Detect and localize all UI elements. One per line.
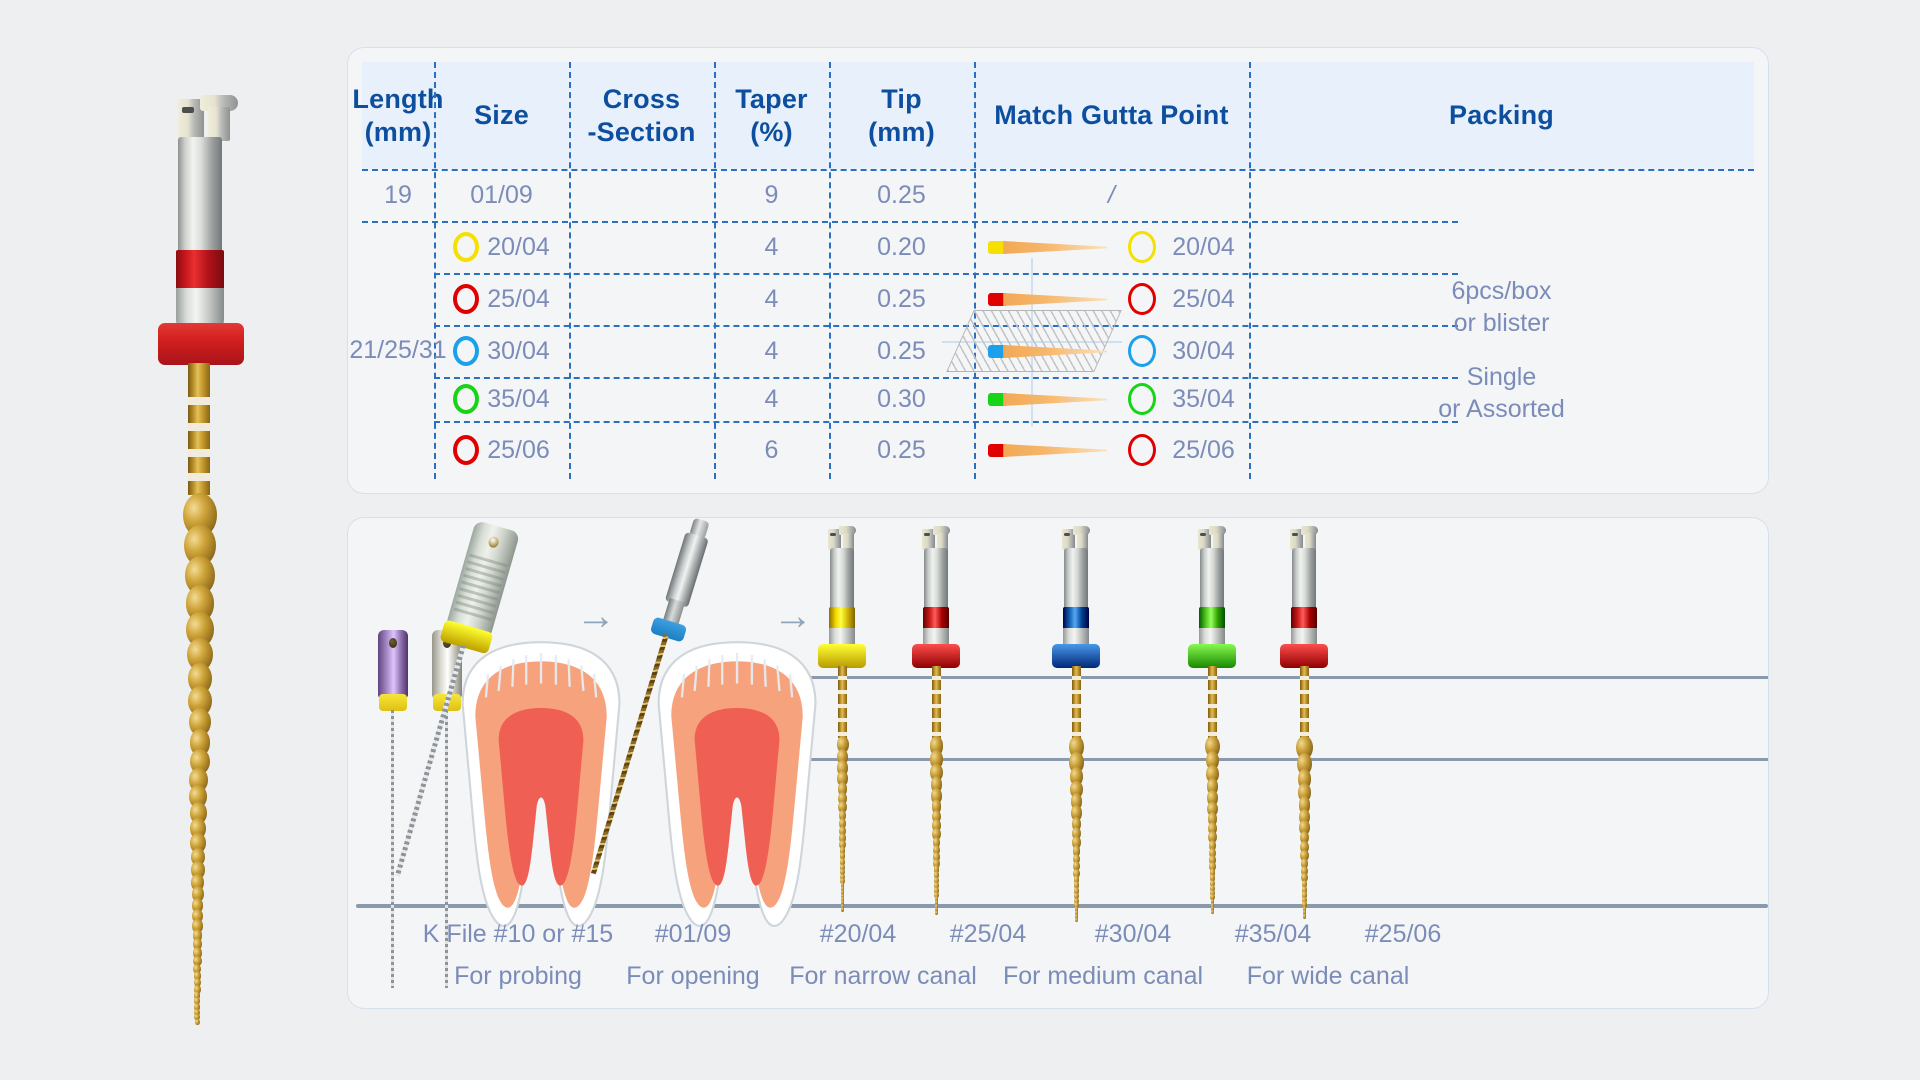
cell-match-gutta-point: 35/04 xyxy=(974,377,1249,421)
rotary-file-instrument xyxy=(908,526,964,964)
header-cross-section-label: Cross-Section xyxy=(587,83,695,149)
label-use-narrow: For narrow canal xyxy=(773,962,993,991)
k-file-stopper xyxy=(379,694,407,711)
hero-depth-marker xyxy=(188,449,210,457)
cell-match-gutta-point: 30/04 xyxy=(974,325,1249,377)
cell-size: 20/04 xyxy=(434,221,569,273)
rotary-file-instrument xyxy=(1184,526,1240,962)
cell-taper: 4 xyxy=(714,377,829,421)
label-use-medium: For medium canal xyxy=(993,962,1213,991)
gutta-label: 25/04 xyxy=(1172,283,1235,315)
hero-depth-marker xyxy=(188,473,210,481)
header-size: Size xyxy=(434,62,569,169)
workflow-diagram: → → K File #10 or #15 #01/09 #20/04 #25/… xyxy=(348,518,1768,1008)
length-value: 19 xyxy=(384,179,412,211)
header-cross-section: Cross-Section xyxy=(569,62,714,169)
packing-line-4: or Assorted xyxy=(1438,393,1564,425)
packing-line-1: 6pcs/box xyxy=(1451,275,1551,307)
gutta-color-ring-icon xyxy=(1128,283,1156,315)
cell-length-212531: 21/25/31 xyxy=(362,221,434,479)
size-color-ring-icon xyxy=(453,435,479,465)
identification-band xyxy=(829,607,855,630)
size-value: 25/06 xyxy=(487,434,550,466)
cell-tip: 0.25 xyxy=(829,421,974,479)
tooth-cross-section xyxy=(452,638,630,930)
gutta-color-ring-icon xyxy=(1128,383,1156,415)
cell-size: 30/04 xyxy=(434,325,569,377)
header-match-gutta-label: Match Gutta Point xyxy=(994,99,1228,132)
file-handle xyxy=(446,520,520,636)
gutta-label: 20/04 xyxy=(1172,231,1235,263)
size-color-ring-icon xyxy=(453,232,479,262)
arrow-icon: → xyxy=(773,596,813,636)
cell-size: 01/09 xyxy=(434,169,569,221)
k-file-eyelet-icon xyxy=(389,638,397,648)
workflow-panel: → → K File #10 or #15 #01/09 #20/04 #25/… xyxy=(348,518,1768,1008)
label-opener-name: #01/09 xyxy=(598,920,788,949)
gutta-label: 25/06 xyxy=(1172,434,1235,466)
size-color-ring-icon xyxy=(453,284,479,314)
silicone-stopper xyxy=(1280,644,1328,668)
hero-flutes xyxy=(180,493,220,1023)
identification-band xyxy=(1199,607,1225,630)
gutta-cone-icon xyxy=(988,343,1106,359)
tooth-cross-section xyxy=(648,638,826,930)
gutta-cone-icon xyxy=(988,291,1106,307)
hero-latch-head xyxy=(178,95,238,143)
header-packing: Packing xyxy=(1249,62,1754,169)
flutes xyxy=(928,736,945,914)
arrow-icon: → xyxy=(576,596,616,636)
gutta-point-graphic: 35/04 xyxy=(988,383,1235,415)
orifice-opener xyxy=(689,516,716,524)
silicone-stopper xyxy=(1188,644,1236,668)
header-tip: Tip(mm) xyxy=(829,62,974,169)
label-use-opening: For opening xyxy=(598,962,788,991)
label-20-04-name: #20/04 xyxy=(788,920,928,949)
cell-match-gutta-point: / xyxy=(974,169,1249,221)
gutta-point-graphic: 20/04 xyxy=(988,231,1235,263)
cell-taper: 6 xyxy=(714,421,829,479)
shank xyxy=(1292,548,1316,610)
silicone-stopper xyxy=(818,644,866,668)
header-length-label: Length(mm) xyxy=(352,83,443,149)
rotary-file-instrument xyxy=(814,526,870,958)
gutta-point-graphic: 25/04 xyxy=(988,283,1235,315)
flutes xyxy=(1068,736,1085,918)
cell-tip: 0.30 xyxy=(829,377,974,421)
identification-band xyxy=(923,607,949,630)
label-25-04-name: #25/04 xyxy=(918,920,1058,949)
identification-band xyxy=(1063,607,1089,630)
cell-size: 25/04 xyxy=(434,273,569,325)
gutta-label: 35/04 xyxy=(1172,383,1235,415)
label-30-04-name: #30/04 xyxy=(1063,920,1203,949)
cell-length-19: 19 xyxy=(362,169,434,221)
gutta-color-ring-icon xyxy=(1128,335,1156,367)
size-color-ring-icon xyxy=(453,336,479,366)
rotary-file-instrument xyxy=(1048,526,1104,968)
header-length: Length(mm) xyxy=(362,62,434,169)
cell-size: 25/06 xyxy=(434,421,569,479)
bur-body xyxy=(665,532,709,608)
cell-taper: 9 xyxy=(714,169,829,221)
column-divider xyxy=(569,62,571,479)
size-value: 35/04 xyxy=(487,383,550,415)
shank xyxy=(1200,548,1224,610)
gutta-cone-icon xyxy=(988,391,1106,407)
cell-taper: 4 xyxy=(714,273,829,325)
hero-depth-marker xyxy=(188,423,210,431)
header-packing-label: Packing xyxy=(1449,99,1554,132)
specification-table: Length(mm) Size Cross-Section Taper(%) T… xyxy=(362,62,1754,479)
cell-packing: 6pcs/box or blister Single or Assorted xyxy=(1249,221,1754,479)
silicone-stopper xyxy=(1052,644,1100,668)
gutta-cone-icon xyxy=(988,239,1106,255)
identification-band xyxy=(1291,607,1317,630)
hero-shank xyxy=(178,137,222,255)
rotary-file-instrument xyxy=(1276,526,1332,966)
header-taper-label: Taper(%) xyxy=(735,83,808,149)
shank xyxy=(1064,548,1088,610)
hero-color-band xyxy=(176,250,224,290)
label-use-wide: For wide canal xyxy=(1218,962,1438,991)
cell-size: 35/04 xyxy=(434,377,569,421)
flutes xyxy=(1296,736,1313,916)
flutes xyxy=(1204,736,1221,912)
silicone-stopper xyxy=(912,644,960,668)
cell-match-gutta-point: 25/06 xyxy=(974,421,1249,479)
cell-match-gutta-point: 25/04 xyxy=(974,273,1249,325)
hero-endodontic-file xyxy=(120,95,320,1025)
size-value: 01/09 xyxy=(470,179,533,211)
gutta-cone-icon xyxy=(988,442,1106,458)
flute-bead xyxy=(195,1019,200,1025)
specification-panel: Length(mm) Size Cross-Section Taper(%) T… xyxy=(348,48,1768,493)
label-25-06-name: #25/06 xyxy=(1333,920,1473,949)
gutta-point-graphic: 25/06 xyxy=(988,434,1235,466)
gutta-label: 30/04 xyxy=(1172,335,1235,367)
cell-tip: 0.20 xyxy=(829,221,974,273)
flutes xyxy=(834,736,851,908)
header-size-label: Size xyxy=(474,99,529,132)
cell-taper: 4 xyxy=(714,221,829,273)
shank xyxy=(830,548,854,610)
packing-line-2: or blister xyxy=(1454,307,1550,339)
hero-depth-marker xyxy=(188,397,210,405)
size-value: 30/04 xyxy=(487,335,550,367)
shank xyxy=(924,548,948,610)
gutta-color-ring-icon xyxy=(1128,434,1156,466)
length-value: 21/25/31 xyxy=(349,334,446,366)
packing-line-3: Single xyxy=(1467,361,1537,393)
cell-match-gutta-point: 20/04 xyxy=(974,221,1249,273)
size-color-ring-icon xyxy=(453,384,479,414)
size-value: 20/04 xyxy=(487,231,550,263)
header-taper: Taper(%) xyxy=(714,62,829,169)
hero-silicone-stopper xyxy=(158,323,244,365)
size-value: 25/04 xyxy=(487,283,550,315)
label-35-04-name: #35/04 xyxy=(1203,920,1343,949)
gutta-point-graphic: 30/04 xyxy=(988,335,1235,367)
header-match-gutta: Match Gutta Point xyxy=(974,62,1249,169)
gutta-color-ring-icon xyxy=(1128,231,1156,263)
cell-taper: 4 xyxy=(714,325,829,377)
cell-tip: 0.25 xyxy=(829,273,974,325)
cell-tip: 0.25 xyxy=(829,325,974,377)
cell-tip: 0.25 xyxy=(829,169,974,221)
header-tip-label: Tip(mm) xyxy=(868,83,935,149)
